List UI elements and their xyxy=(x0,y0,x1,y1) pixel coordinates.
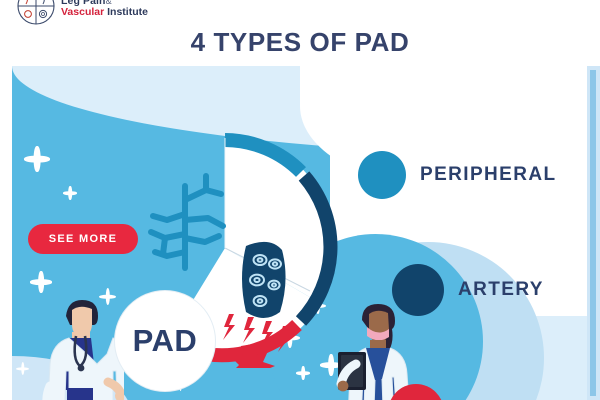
brand-institute: Institute xyxy=(107,6,148,18)
sparkle-icon xyxy=(24,146,50,172)
see-more-button[interactable]: SEE MORE xyxy=(28,224,138,254)
pad-center-label: PAD xyxy=(115,291,215,391)
sparkle-icon xyxy=(16,362,29,375)
brand-vascular: Vascular xyxy=(61,6,104,18)
legend-item-artery[interactable]: ARTERY xyxy=(392,264,544,316)
page-title: 4 TYPES OF PAD xyxy=(0,27,600,58)
brand-logo[interactable]: Leg Pain& Vascular Institute xyxy=(16,0,148,26)
left-white-margin xyxy=(0,66,12,400)
legend-label-artery: ARTERY xyxy=(458,279,544,301)
leg-pain-vascular-institute-emblem-icon xyxy=(16,0,56,26)
dot-icon xyxy=(388,384,444,400)
right-accent-stripe xyxy=(590,70,596,396)
legend-item-peripheral[interactable]: PERIPHERAL xyxy=(358,151,556,199)
page-header: Leg Pain& Vascular Institute 4 TYPES OF … xyxy=(0,0,600,66)
male-doctor-with-stethoscope-illustration xyxy=(36,288,124,400)
vessel-cross-section-icon xyxy=(242,242,286,318)
pad-text: PAD xyxy=(133,323,198,359)
dot-icon xyxy=(392,264,444,316)
legend-label-peripheral: PERIPHERAL xyxy=(420,164,556,186)
dot-icon xyxy=(358,151,406,199)
infographic-canvas: SEE MORE xyxy=(0,66,600,400)
sparkle-icon xyxy=(63,186,77,200)
vessel-branch-icon xyxy=(151,176,223,268)
legend-item-disease[interactable]: DISEASE xyxy=(388,384,551,400)
sparkle-icon xyxy=(296,366,310,380)
brand-line-2: Vascular Institute xyxy=(61,7,148,18)
infographic-page: Leg Pain& Vascular Institute 4 TYPES OF … xyxy=(0,0,600,400)
brand-logo-text: Leg Pain& Vascular Institute xyxy=(61,0,148,18)
